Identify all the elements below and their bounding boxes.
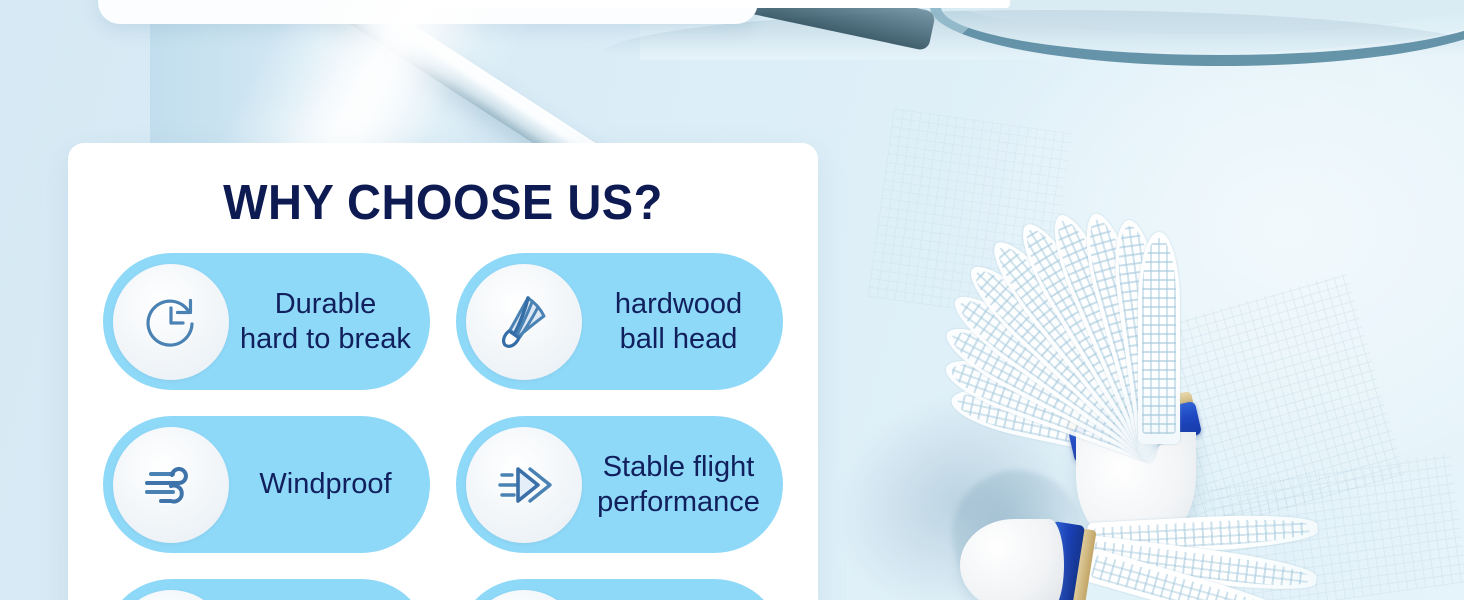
feature-grid: Durable hard to break hardwood [68, 253, 818, 600]
wind-icon [113, 427, 229, 543]
feature-pill-label: Stable flight performance [582, 450, 783, 518]
shuttlecock-cork-tip [960, 519, 1064, 600]
feature-pill-label: Windproof [229, 467, 430, 501]
feature-label-line1: Stable flight [603, 451, 755, 483]
feature-label-line1: Durable [275, 288, 377, 320]
feature-pill-label: hardwood ball head [582, 287, 783, 355]
double-chevron-speed-icon [466, 427, 582, 543]
feature-pill-windproof[interactable]: Windproof [103, 416, 430, 553]
feature-pill-hardwood-ball-head[interactable]: hardwood ball head [456, 253, 783, 390]
feature-pill-label: Durable hard to break [229, 287, 430, 355]
top-white-card-fragment-2 [430, 0, 1010, 8]
feature-label-line1: hardwood [615, 288, 742, 320]
feature-pill-row3-right[interactable] [456, 579, 783, 600]
page-title: WHY CHOOSE US? [83, 179, 803, 228]
feature-row3-left-icon [113, 590, 229, 600]
feature-label-line2: performance [597, 486, 760, 518]
shuttlecock-feather [1138, 232, 1180, 444]
feature-pill-durable[interactable]: Durable hard to break [103, 253, 430, 390]
feature-pill-stable-flight[interactable]: Stable flight performance [456, 416, 783, 553]
shuttlecock-icon [466, 264, 582, 380]
promo-banner: WHY CHOOSE US? Durable hard to break [0, 0, 1464, 600]
feature-label-line2: ball head [620, 323, 738, 355]
feature-pill-row3-left[interactable] [103, 579, 430, 600]
why-choose-us-card: WHY CHOOSE US? Durable hard to break [68, 143, 818, 600]
feature-label-line2: hard to break [240, 323, 411, 355]
shuttlecock-primary [838, 92, 1238, 522]
feature-label-line1: Windproof [259, 468, 391, 500]
clock-rotate-icon [113, 264, 229, 380]
shuttlecock-secondary [960, 505, 1464, 600]
feature-row3-right-icon [466, 590, 582, 600]
